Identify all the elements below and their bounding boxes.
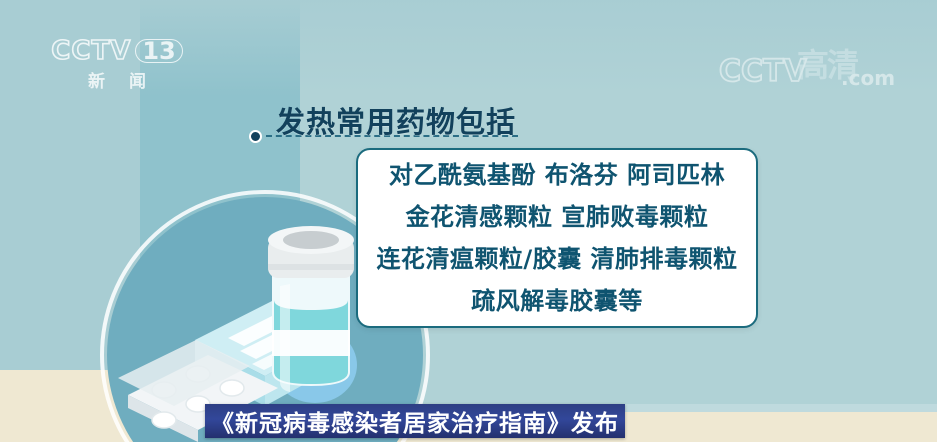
broadcast-screenshot: CCTV 13 新 闻 高清 CCTV .com 发热常用药物包括 对乙酰氨基酚… [0, 0, 937, 442]
page-title: 发热常用药物包括 [276, 99, 516, 141]
drug-list-line: 连花清瘟颗粒/胶囊 清肺排毒颗粒 [376, 239, 737, 279]
lower-third-banner: 《新冠病毒感染者居家治疗指南》发布 [205, 404, 625, 438]
drug-list-line: 对乙酰氨基酚 布洛芬 阿司匹林 [389, 155, 725, 195]
vaccine-vial-icon [268, 226, 354, 392]
drug-list-card: 对乙酰氨基酚 布洛芬 阿司匹林 金花清感颗粒 宣肺败毒颗粒 连花清瘟颗粒/胶囊 … [356, 148, 758, 328]
lower-third-banner-text: 《新冠病毒感染者居家治疗指南》发布 [211, 404, 619, 438]
background-top-wash [0, 0, 937, 96]
drug-list-line: 疏风解毒胶囊等 [471, 281, 643, 321]
heading-bullet-dot-icon [249, 130, 262, 143]
drug-list-line: 金花清感颗粒 宣肺败毒颗粒 [406, 197, 709, 237]
